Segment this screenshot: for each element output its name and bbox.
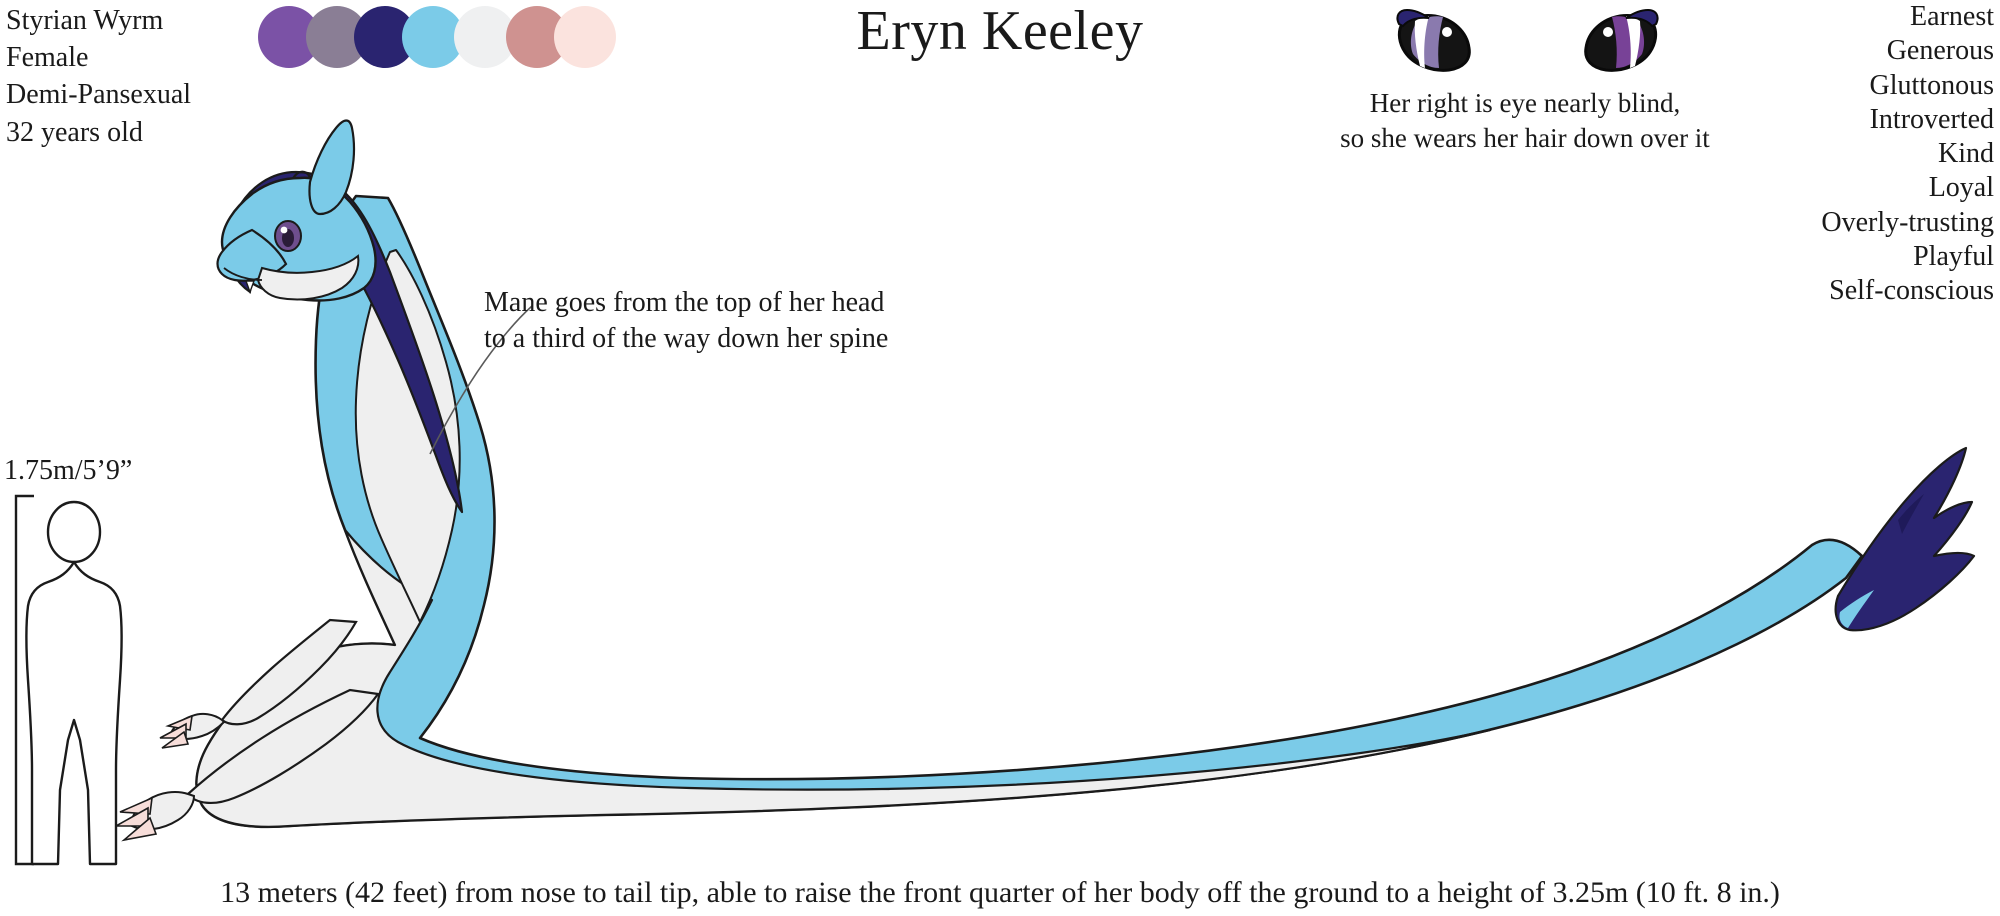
trait-gluttonous: Gluttonous	[1821, 69, 1994, 103]
right-eye-icon	[1580, 8, 1660, 74]
stat-orientation: Demi-Pansexual	[6, 76, 191, 113]
trait-earnest: Earnest	[1821, 0, 1994, 34]
human-scale-silhouette	[8, 490, 168, 870]
reference-sheet: Styrian Wyrm Female Demi-Pansexual 32 ye…	[0, 0, 2000, 916]
silhouette-head	[48, 502, 100, 562]
stat-age: 32 years old	[6, 114, 191, 151]
trait-generous: Generous	[1821, 34, 1994, 68]
tail-tuft	[1836, 448, 1974, 630]
trait-playful: Playful	[1821, 240, 1994, 274]
creature-body	[196, 196, 1862, 827]
eye-row	[1290, 8, 1760, 78]
trait-loyal: Loyal	[1821, 171, 1994, 205]
trait-kind: Kind	[1821, 137, 1994, 171]
trait-overly-trusting: Overly-trusting	[1821, 206, 1994, 240]
mane-annotation: Mane goes from the top of her head to a …	[484, 285, 888, 358]
trait-introverted: Introverted	[1821, 103, 1994, 137]
height-label: 1.75m/5’9”	[4, 455, 132, 487]
eye-caption-line-1: Her right is eye nearly blind,	[1290, 86, 1760, 121]
creature-head	[218, 121, 376, 301]
eye-caption-line-2: so she wears her hair down over it	[1290, 121, 1760, 156]
eye-reference-block: Her right is eye nearly blind, so she we…	[1290, 8, 1760, 155]
trait-self-conscious: Self-conscious	[1821, 274, 1994, 308]
mane-note-line-1: Mane goes from the top of her head	[484, 285, 888, 321]
eye-caption: Her right is eye nearly blind, so she we…	[1290, 86, 1760, 155]
silhouette-body	[27, 562, 122, 864]
creature-eye-highlight	[281, 227, 288, 234]
left-eye-icon	[1395, 8, 1475, 74]
size-caption: 13 meters (42 feet) from nose to tail ti…	[0, 876, 2000, 910]
personality-traits-list: Earnest Generous Gluttonous Introverted …	[1821, 0, 1994, 309]
mane-note-line-2: to a third of the way down her spine	[484, 321, 888, 357]
